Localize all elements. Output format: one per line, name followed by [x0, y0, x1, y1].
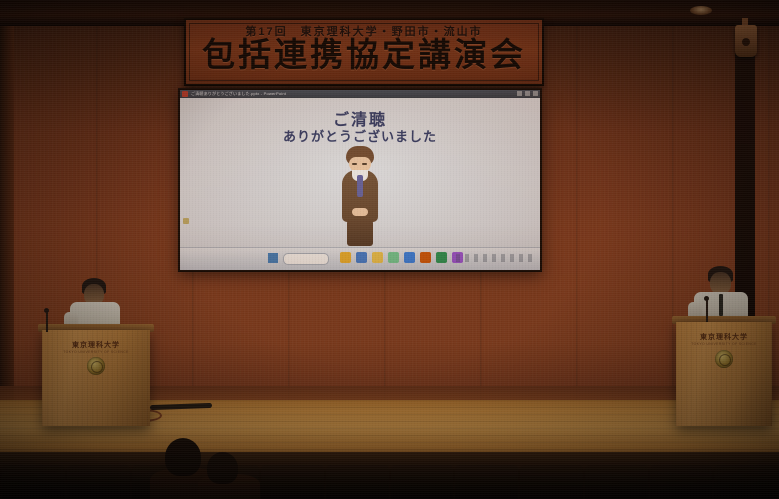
- banner-main-title: 包括連携協定講演会: [186, 38, 542, 73]
- word-icon[interactable]: [404, 252, 415, 263]
- microphone-left-stem: [46, 312, 48, 332]
- figure-eye-left: [352, 163, 357, 165]
- podium-right: 東京理科大学 TOKYO UNIVERSITY OF SCIENCE: [676, 322, 772, 426]
- event-banner: 第17回 東京理科大学・野田市・流山市 包括連携協定講演会: [184, 18, 544, 86]
- figure-necktie: [357, 175, 363, 197]
- windows-start-icon[interactable]: [268, 253, 278, 263]
- seat[interactable]: [585, 465, 648, 499]
- seat[interactable]: [520, 465, 583, 499]
- bowing-businessman-illustration: [332, 146, 388, 246]
- seat[interactable]: [2, 465, 65, 499]
- figure-trousers: [347, 220, 373, 246]
- seat-row: [0, 465, 779, 499]
- seat[interactable]: [391, 465, 454, 499]
- projection-screen: ご清聴ありがとうございました.pptx - PowerPoint ご清聴 ありが…: [180, 90, 540, 270]
- seat[interactable]: [650, 465, 713, 499]
- seat[interactable]: [326, 465, 389, 499]
- file-explorer-icon[interactable]: [340, 252, 351, 263]
- podium-left: 東京理科大学 TOKYO UNIVERSITY OF SCIENCE: [42, 330, 150, 426]
- minimize-icon[interactable]: [517, 91, 522, 96]
- excel-icon[interactable]: [436, 252, 447, 263]
- audience-member-1-head: [165, 438, 201, 476]
- podium-left-label: 東京理科大学: [42, 340, 150, 350]
- close-icon[interactable]: [533, 91, 538, 96]
- wall-mounted-speaker-icon: [735, 25, 757, 57]
- media-icon[interactable]: [388, 252, 399, 263]
- seat[interactable]: [67, 465, 130, 499]
- podium-right-emblem: [715, 350, 733, 368]
- window-controls[interactable]: [517, 91, 538, 96]
- maximize-icon[interactable]: [525, 91, 530, 96]
- projection-screen-frame: ご清聴ありがとうございました.pptx - PowerPoint ご清聴 ありが…: [178, 88, 542, 272]
- auditorium-house: [0, 452, 779, 499]
- slide-text-line-2: ありがとうございました: [180, 126, 540, 145]
- seat[interactable]: [261, 465, 324, 499]
- browser-icon[interactable]: [372, 252, 383, 263]
- seat[interactable]: [714, 465, 777, 499]
- window-title: ご清聴ありがとうございました.pptx - PowerPoint: [191, 91, 286, 97]
- speaker-right-head: [710, 272, 731, 294]
- seat[interactable]: [455, 465, 518, 499]
- slide-corner-mark: [183, 218, 189, 224]
- podium-right-label: 東京理科大学: [676, 332, 772, 342]
- slide-canvas: ご清聴 ありがとうございました: [180, 98, 540, 248]
- figure-eye-right: [362, 163, 367, 165]
- left-wall-edge: [0, 24, 14, 434]
- podium-right-sublabel: TOKYO UNIVERSITY OF SCIENCE: [676, 342, 772, 346]
- powerpoint-icon: [182, 91, 188, 97]
- audience-member-2-head: [207, 452, 238, 484]
- microphone-right-stem: [706, 300, 708, 322]
- system-tray[interactable]: [456, 254, 536, 262]
- windows-taskbar[interactable]: [180, 247, 540, 270]
- speaker-right-necktie: [719, 294, 723, 316]
- microphone-right-head: [704, 296, 709, 301]
- podium-left-emblem: [87, 357, 105, 375]
- podium-left-sublabel: TOKYO UNIVERSITY OF SCIENCE: [42, 350, 150, 354]
- ceiling-downlight-icon: [690, 6, 712, 15]
- powerpoint-icon[interactable]: [420, 252, 431, 263]
- taskbar-pinned-icons[interactable]: [340, 252, 463, 263]
- figure-hands: [352, 208, 368, 216]
- mail-icon[interactable]: [356, 252, 367, 263]
- microphone-left-head: [44, 308, 49, 313]
- taskbar-search-input[interactable]: [283, 253, 329, 265]
- auditorium-photo: 第17回 東京理科大学・野田市・流山市 包括連携協定講演会 ご清聴ありがとうござ…: [0, 0, 779, 499]
- presentation-window-titlebar: ご清聴ありがとうございました.pptx - PowerPoint: [180, 90, 540, 98]
